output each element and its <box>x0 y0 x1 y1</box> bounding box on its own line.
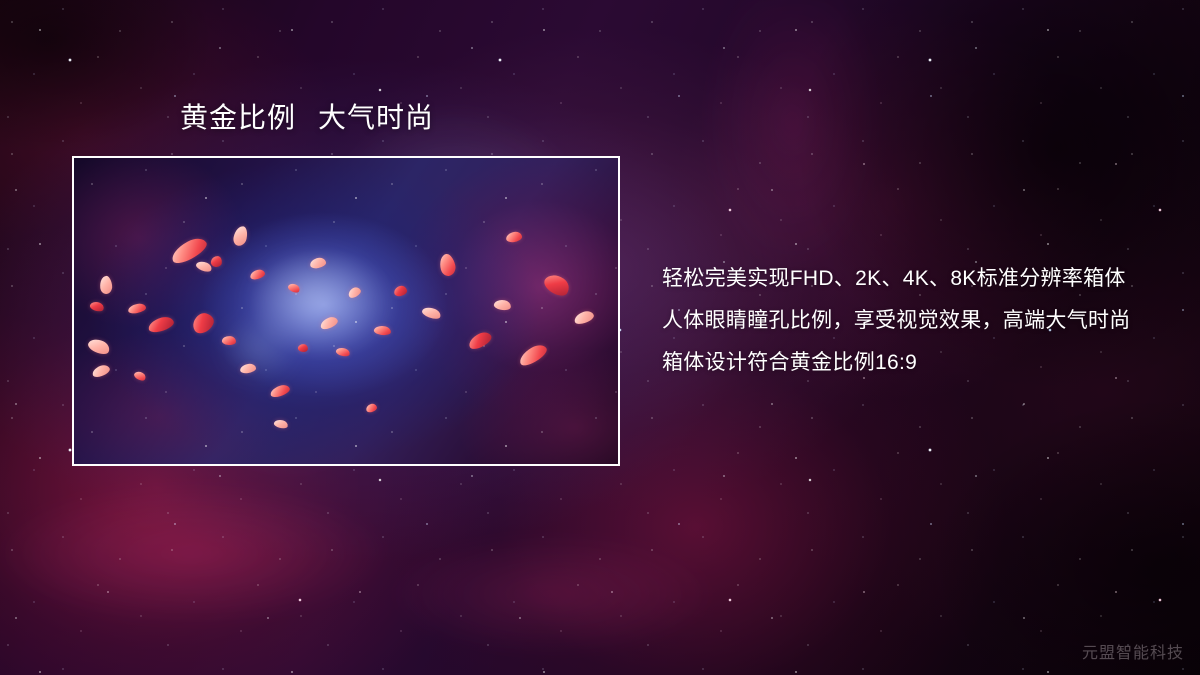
watermark-label: 元盟智能科技 <box>1082 639 1184 663</box>
body-copy-line-3: 箱体设计符合黄金比例16:9 <box>662 342 1162 384</box>
slide-title: 黄金比例大气时尚 <box>180 103 434 134</box>
title-part-two: 大气时尚 <box>318 102 434 133</box>
body-copy-block: 轻松完美实现FHD、2K、4K、8K标准分辨率箱体 人体眼睛瞳孔比例，享受视觉效… <box>662 258 1162 384</box>
preview-image-frame <box>72 156 620 466</box>
body-copy-line-1: 轻松完美实现FHD、2K、4K、8K标准分辨率箱体 <box>662 258 1162 300</box>
title-part-one: 黄金比例 <box>180 102 296 133</box>
presentation-slide: 黄金比例大气时尚 <box>0 0 1200 675</box>
body-copy-line-2: 人体眼睛瞳孔比例，享受视觉效果，高端大气时尚 <box>662 300 1162 342</box>
preview-starfield-icon <box>74 158 618 464</box>
